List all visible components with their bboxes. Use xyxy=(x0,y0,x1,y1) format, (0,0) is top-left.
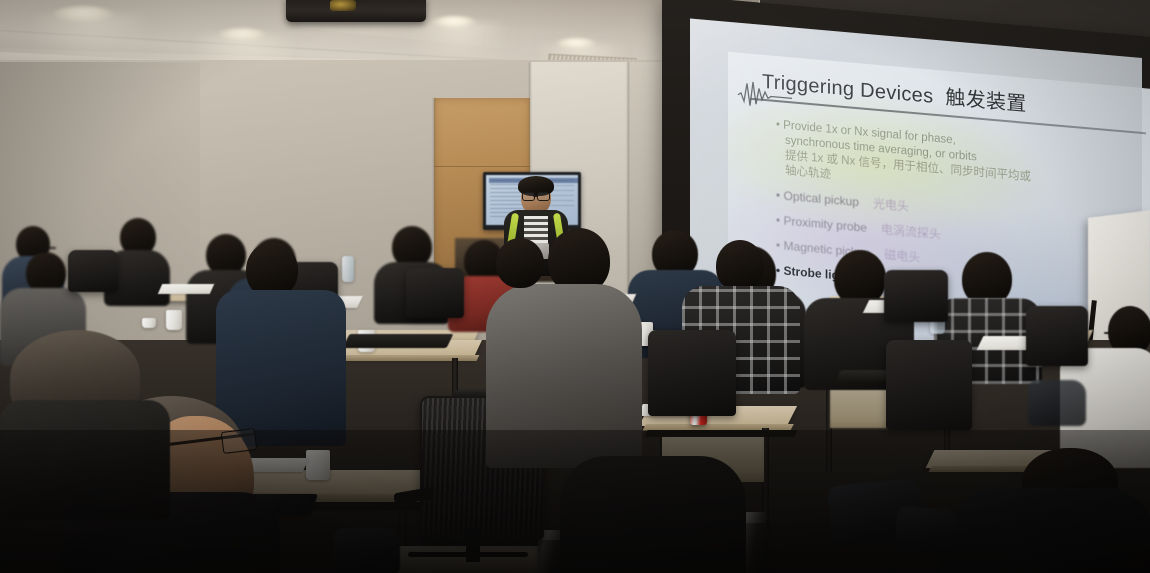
slide-title: Triggering Devices触发装置 xyxy=(762,65,1132,126)
handout-paper xyxy=(158,284,214,294)
floor-shadow xyxy=(0,430,1150,573)
office-chair-back[interactable] xyxy=(406,268,464,318)
slide-bullet-zh: 光电头 xyxy=(873,196,909,213)
paper-cup xyxy=(166,310,182,330)
office-chair-back[interactable] xyxy=(1026,306,1088,366)
office-chair-back[interactable] xyxy=(886,340,972,430)
attendee-head xyxy=(496,238,544,288)
office-chair-back[interactable] xyxy=(68,250,118,292)
office-chair-back[interactable] xyxy=(648,330,736,416)
attendee-glasses xyxy=(40,247,56,249)
slide-bullet-en: • Proximity probe xyxy=(776,213,867,235)
slide-bullet-zh: 电涡流探头 xyxy=(881,222,941,241)
presenter-glasses xyxy=(537,192,550,201)
ceiling-projector xyxy=(286,0,426,22)
ceiling-light-glow xyxy=(34,14,144,62)
attendee-torso xyxy=(216,290,346,446)
wall-edge xyxy=(433,98,435,282)
presenter-glasses-bridge xyxy=(533,195,538,197)
slide-title-zh: 触发装置 xyxy=(945,87,1026,116)
slide-body: • Provide 1x or Nx signal for phase, syn… xyxy=(776,118,1136,309)
projector-lens-icon xyxy=(330,0,356,11)
classroom-scene: Triggering Devices触发装置 • Provide 1x or N… xyxy=(0,0,1150,573)
water-bottle xyxy=(342,256,354,282)
slide-bullet-en: • Optical pickup xyxy=(776,188,859,209)
office-chair-back[interactable] xyxy=(884,270,948,322)
attendee-glasses xyxy=(1104,332,1120,334)
attendee-head xyxy=(716,240,764,292)
backpack xyxy=(1028,380,1086,426)
laptop xyxy=(343,334,454,348)
paper-cup-lid xyxy=(142,318,156,328)
slide-bullet-zh: 磁电头 xyxy=(884,247,920,264)
